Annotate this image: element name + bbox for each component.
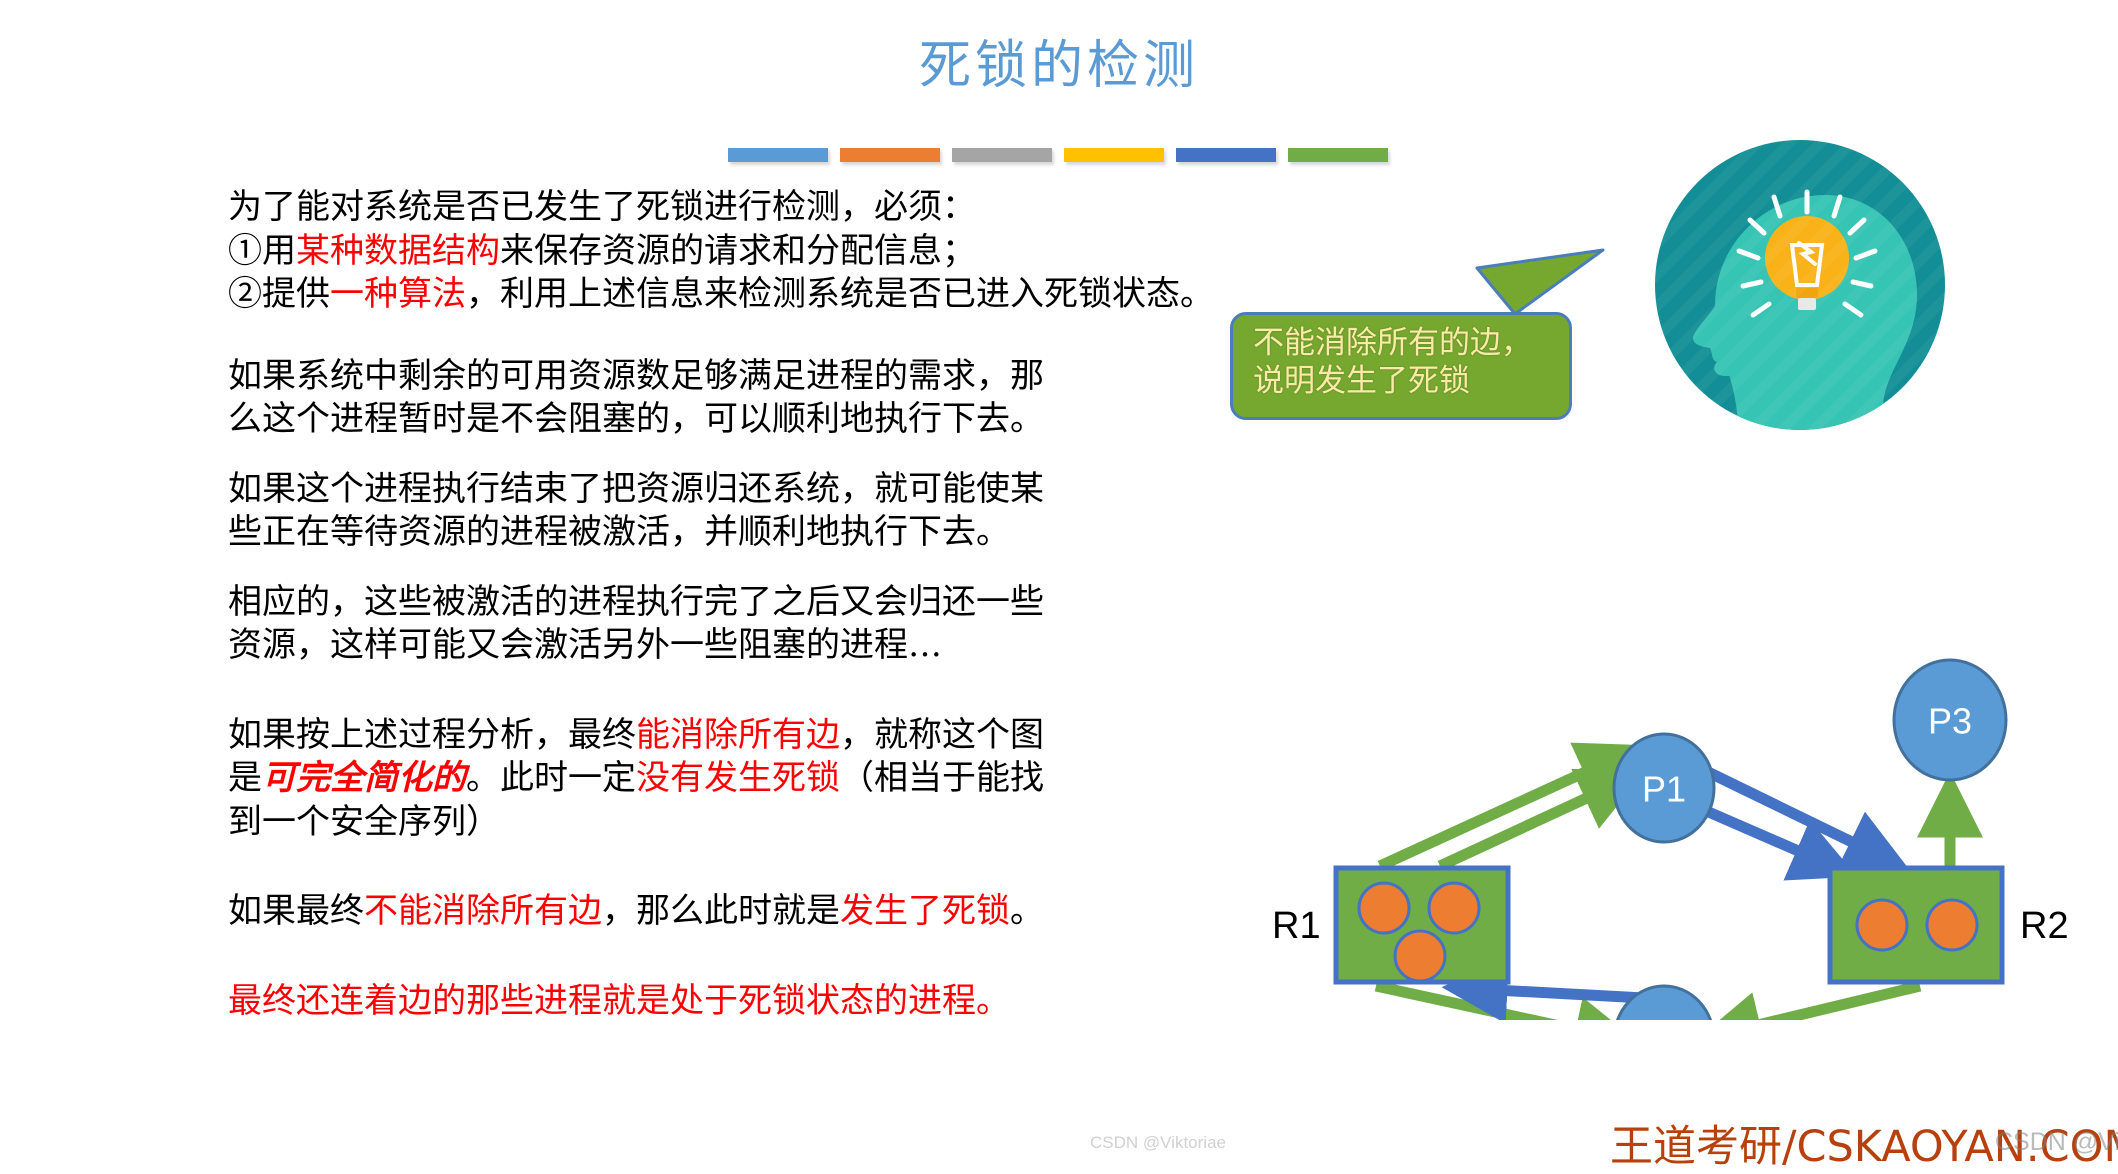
intro-item1-prefix: ①用 — [228, 231, 296, 271]
head-lightbulb-icon — [1655, 140, 1945, 430]
intro-item2-highlight: 一种算法 — [330, 274, 466, 314]
spacer — [228, 668, 1238, 714]
spacer — [228, 442, 1238, 468]
p5-suffix: ，就称这个图 — [840, 715, 1044, 755]
paragraph-3-line1: 如果这个进程执行结束了把资源归还系统，就可能使某 — [228, 468, 1238, 512]
p5-line2-prefix: 是 — [228, 758, 262, 798]
p6-prefix: 如果最终 — [228, 891, 364, 931]
edge-p2-to-r1 — [1458, 988, 1644, 998]
paragraph-2-line2: 么这个进程暂时是不会阻塞的，可以顺利地执行下去。 — [228, 398, 1238, 442]
paragraph-6: 如果最终不能消除所有边，那么此时就是发生了死锁。 — [228, 890, 1238, 934]
paragraph-intro-line3: ②提供一种算法，利用上述信息来检测系统是否已进入死锁状态。 — [228, 273, 1238, 317]
spacer — [228, 844, 1238, 890]
r2-instance-2 — [1927, 900, 1977, 950]
p5-prefix: 如果按上述过程分析，最终 — [228, 715, 636, 755]
paragraph-5-line3: 到一个安全序列） — [228, 801, 1238, 845]
p5-line2-mid: 。此时一定 — [466, 758, 636, 798]
r2-instance-1 — [1857, 900, 1907, 950]
p3-label: P3 — [1928, 701, 1972, 742]
body-text-column: 为了能对系统是否已发生了死锁进行检测，必须： ①用某种数据结构来保存资源的请求和… — [228, 186, 1238, 1023]
r2-label: R2 — [2020, 905, 2069, 947]
p6-highlight-deadlock: 发生了死锁 — [840, 891, 1010, 931]
p5-highlight-removable: 能消除所有边 — [636, 715, 840, 755]
resource-node-r1[interactable]: R1 — [1272, 868, 1508, 982]
process-node-p3[interactable]: P3 — [1894, 660, 2006, 780]
speech-bubble-text: 不能消除所有的边， 说明发生了死锁 — [1253, 325, 1553, 401]
r1-label: R1 — [1272, 905, 1321, 947]
paragraph-7-conclusion: 最终还连着边的那些进程就是处于死锁状态的进程。 — [228, 980, 1238, 1024]
spacer — [228, 317, 1238, 355]
accent-bar-orange — [840, 148, 940, 162]
r1-instance-1 — [1359, 883, 1409, 933]
intro-item1-highlight: 某种数据结构 — [296, 231, 500, 271]
paragraph-intro-line1: 为了能对系统是否已发生了死锁进行检测，必须： — [228, 186, 1238, 230]
process-node-p2[interactable]: P2 — [1614, 986, 1714, 1020]
p5-line2-suffix: （相当于能找 — [840, 758, 1044, 798]
intro-item2-prefix: ②提供 — [228, 274, 330, 314]
edge-p1-to-r2-b — [1704, 810, 1842, 870]
badge-stripes — [1655, 140, 1945, 430]
accent-bar-gray — [952, 148, 1052, 162]
paragraph-2-line1: 如果系统中剩余的可用资源数足够满足进程的需求，那 — [228, 355, 1238, 399]
resource-allocation-graph: R1 R2 P1 P2 P3 — [1230, 400, 2118, 1020]
p1-label: P1 — [1642, 769, 1686, 810]
paragraph-5-line1: 如果按上述过程分析，最终能消除所有边，就称这个图 — [228, 714, 1238, 758]
r1-instance-3 — [1395, 931, 1445, 981]
paragraph-4-line2: 资源，这样可能又会激活另外一些阻塞的进程… — [228, 624, 1238, 668]
r1-instance-2 — [1429, 883, 1479, 933]
spacer — [228, 934, 1238, 980]
resource-node-r2[interactable]: R2 — [1830, 868, 2069, 982]
csdn-watermark-faint: CSDN @Viktoriae — [1090, 1133, 1226, 1153]
process-node-p1[interactable]: P1 — [1614, 734, 1714, 842]
paragraph-5-line2: 是可完全简化的。此时一定没有发生死锁（相当于能找 — [228, 757, 1238, 801]
p6-highlight-not-removable: 不能消除所有边 — [364, 891, 602, 931]
page-title: 死锁的检测 — [0, 38, 2118, 95]
intro-item1-suffix: 来保存资源的请求和分配信息； — [500, 231, 976, 271]
paragraph-3-line2: 些正在等待资源的进程被激活，并顺利地执行下去。 — [228, 511, 1238, 555]
intro-item2-suffix: ，利用上述信息来检测系统是否已进入死锁状态。 — [466, 274, 1214, 314]
csdn-watermark: CSDN @Viktoriae — [1995, 1128, 2118, 1157]
p2-ellipse[interactable] — [1614, 986, 1714, 1020]
edge-r2-to-p2 — [1712, 986, 1920, 1020]
p5-highlight-no-deadlock: 没有发生死锁 — [636, 758, 840, 798]
accent-bar-blue — [728, 148, 828, 162]
diagram-region: 不能消除所有的边， 说明发生了死锁 — [1230, 140, 2118, 1040]
paragraph-4-line1: 相应的，这些被激活的进程执行完了之后又会归还一些 — [228, 581, 1238, 625]
edge-r1-to-p1-a — [1380, 752, 1629, 866]
paragraph-intro-line2: ①用某种数据结构来保存资源的请求和分配信息； — [228, 230, 1238, 274]
spacer — [228, 555, 1238, 581]
p6-suffix: 。 — [1010, 891, 1044, 931]
accent-bar-yellow — [1064, 148, 1164, 162]
p6-mid: ，那么此时就是 — [602, 891, 840, 931]
p5-term-fully-reducible: 可完全简化的 — [262, 758, 466, 798]
speech-bubble-tail — [1475, 248, 1605, 318]
